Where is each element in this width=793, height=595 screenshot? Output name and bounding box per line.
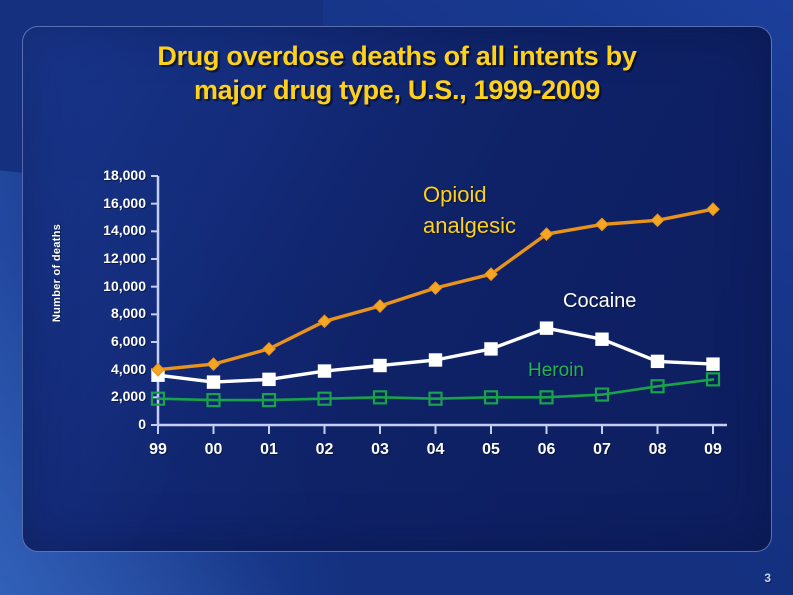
y-axis-tick-label: 14,000 (76, 222, 146, 238)
x-axis-tick-label: 08 (638, 441, 678, 459)
x-axis-tick-label: 04 (416, 441, 456, 459)
y-axis-tick-label: 2,000 (76, 388, 146, 404)
x-axis-tick-label: 09 (693, 441, 733, 459)
series-cocaine (152, 322, 719, 388)
slide-title-line-1: Drug overdose deaths of all intents by (23, 39, 771, 73)
y-axis-title: Number of deaths (51, 193, 63, 353)
series-label-opioid-line-2: analgesic (423, 213, 516, 239)
x-axis-tick-label: 05 (471, 441, 511, 459)
y-axis-tick-label: 16,000 (76, 195, 146, 211)
slide-title: Drug overdose deaths of all intents by m… (23, 39, 771, 107)
slide-title-line-2: major drug type, U.S., 1999-2009 (23, 73, 771, 107)
slide-number: 3 (764, 571, 771, 585)
x-axis-tick-label: 03 (360, 441, 400, 459)
series-label-cocaine: Cocaine (563, 290, 636, 313)
x-axis-tick-label: 00 (194, 441, 234, 459)
y-axis-tick-label: 10,000 (76, 278, 146, 294)
y-axis-tick-label: 6,000 (76, 333, 146, 349)
x-axis-tick-label: 99 (138, 441, 178, 459)
x-axis-tick-label: 07 (582, 441, 622, 459)
slide-canvas: Drug overdose deaths of all intents by m… (0, 0, 793, 595)
y-axis-tick-label: 0 (76, 416, 146, 432)
y-axis-tick-label: 8,000 (76, 305, 146, 321)
y-axis-tick-label: 18,000 (76, 167, 146, 183)
series-heroin (152, 373, 719, 406)
x-axis-tick-label: 01 (249, 441, 289, 459)
y-axis-tick-label: 4,000 (76, 361, 146, 377)
x-axis-tick-label: 06 (527, 441, 567, 459)
series-label-opioid-line-1: Opioid (423, 182, 487, 208)
slide-content-panel: Drug overdose deaths of all intents by m… (22, 26, 772, 552)
x-axis-tick-label: 02 (305, 441, 345, 459)
y-axis-tick-label: 12,000 (76, 250, 146, 266)
series-label-heroin: Heroin (528, 360, 584, 382)
